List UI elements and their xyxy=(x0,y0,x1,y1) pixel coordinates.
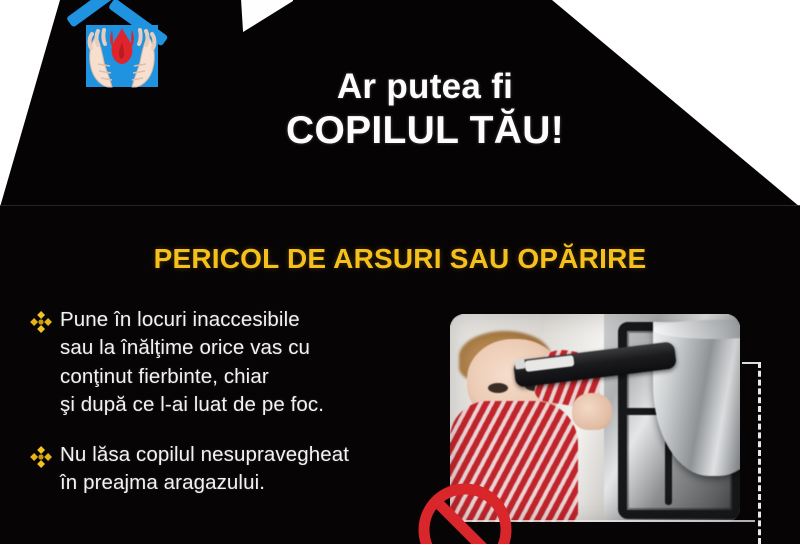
poster-headline: Ar putea fi COPILUL TĂU! xyxy=(215,68,635,152)
house-hands-flame-logo xyxy=(60,0,185,110)
gold-diamond-cluster-icon xyxy=(30,311,52,333)
safety-poster: Ar putea fi COPILUL TĂU! PERICOL DE ARSU… xyxy=(0,0,800,544)
list-item-text: Pune în locuri inaccesibile sau la înălţ… xyxy=(60,306,324,419)
prohibition-sign-icon xyxy=(415,480,515,544)
list-item: Nu lăsa copilul nesupravegheat în preajm… xyxy=(30,441,430,498)
gold-diamond-cluster-icon xyxy=(30,446,52,468)
bullet-list: Pune în locuri inaccesibile sau la înălţ… xyxy=(30,306,430,520)
list-item: Pune în locuri inaccesibile sau la înălţ… xyxy=(30,306,430,419)
headline-line-1: Ar putea fi xyxy=(215,68,635,106)
headline-line-2: COPILUL TĂU! xyxy=(215,110,635,152)
dashed-guide-vertical xyxy=(758,362,761,544)
section-heading: PERICOL DE ARSURI SAU OPĂRIRE xyxy=(0,243,800,275)
list-item-text: Nu lăsa copilul nesupravegheat în preajm… xyxy=(60,441,349,498)
